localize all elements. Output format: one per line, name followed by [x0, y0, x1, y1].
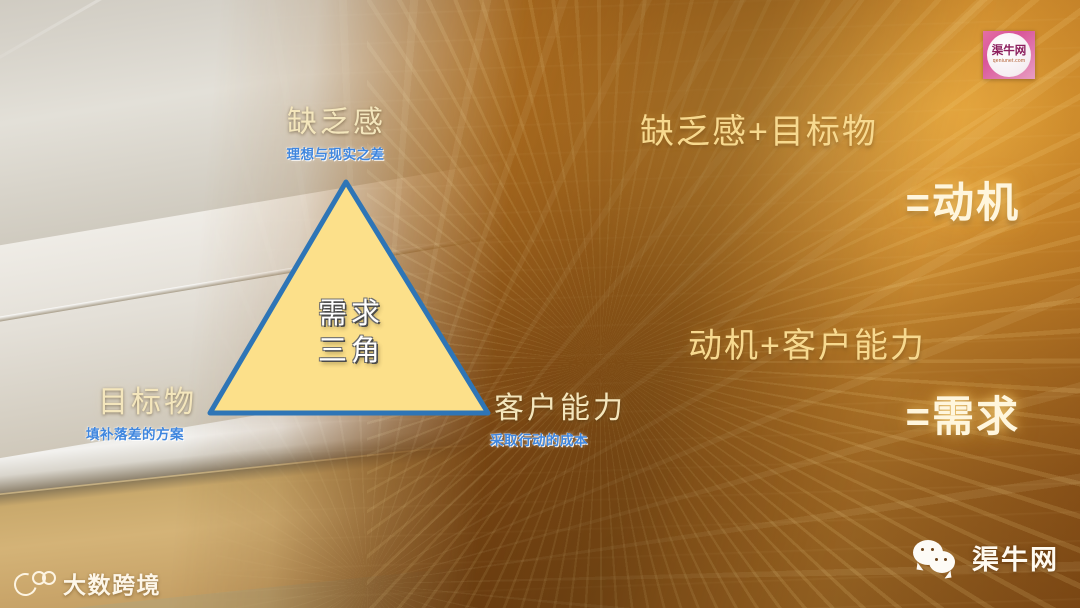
- bottom-right-brand-label: 渠牛网: [972, 538, 1059, 577]
- kuajing-logo-icon: [14, 571, 54, 595]
- vertex-goal-subtitle: 填补落差的方案: [86, 423, 197, 443]
- bottom-left-brand: 大数跨境: [14, 566, 161, 600]
- kuajing-logo-dot-2: [42, 571, 56, 585]
- equation-demand: 动机+客户能力 =需求: [688, 318, 1020, 444]
- vertex-ability-title: 客户能力: [494, 392, 626, 425]
- vertex-label-goal: 目标物 填补落差的方案: [98, 386, 197, 443]
- equation-motivation-result: =动机: [640, 169, 1020, 230]
- background-warm-wash: [0, 0, 1080, 608]
- vertex-ability-subtitle: 采取行动的成本: [490, 429, 626, 449]
- corner-watermark-logo: 渠牛网 qeniunet.com: [983, 31, 1035, 79]
- bottom-left-brand-label: 大数跨境: [63, 566, 161, 600]
- corner-logo-disc: 渠牛网 qeniunet.com: [987, 33, 1031, 77]
- vertex-lack-title: 缺乏感: [287, 106, 386, 139]
- demand-triangle: [196, 170, 506, 425]
- bottom-right-brand: 渠牛网: [913, 538, 1059, 577]
- equation-motivation: 缺乏感+目标物 =动机: [640, 104, 1020, 230]
- vertex-label-ability: 客户能力 采取行动的成本: [494, 392, 626, 449]
- triangle-shape: [210, 182, 488, 413]
- vertex-goal-title: 目标物: [98, 386, 197, 419]
- vertex-label-lack: 缺乏感 理想与现实之差: [287, 106, 386, 163]
- vertex-lack-subtitle: 理想与现实之差: [285, 143, 386, 163]
- equation-demand-result: =需求: [688, 383, 1020, 444]
- corner-logo-url: qeniunet.com: [993, 59, 1025, 64]
- slide-canvas: 需求 三角 缺乏感 理想与现实之差 目标物 填补落差的方案 客户能力 采取行动的…: [0, 0, 1080, 608]
- equation-motivation-terms: 缺乏感+目标物: [640, 104, 1020, 153]
- wechat-bubble-small: [929, 551, 955, 573]
- corner-logo-name: 渠牛网: [992, 46, 1027, 58]
- equation-demand-terms: 动机+客户能力: [688, 318, 1020, 367]
- wechat-icon: [913, 540, 961, 576]
